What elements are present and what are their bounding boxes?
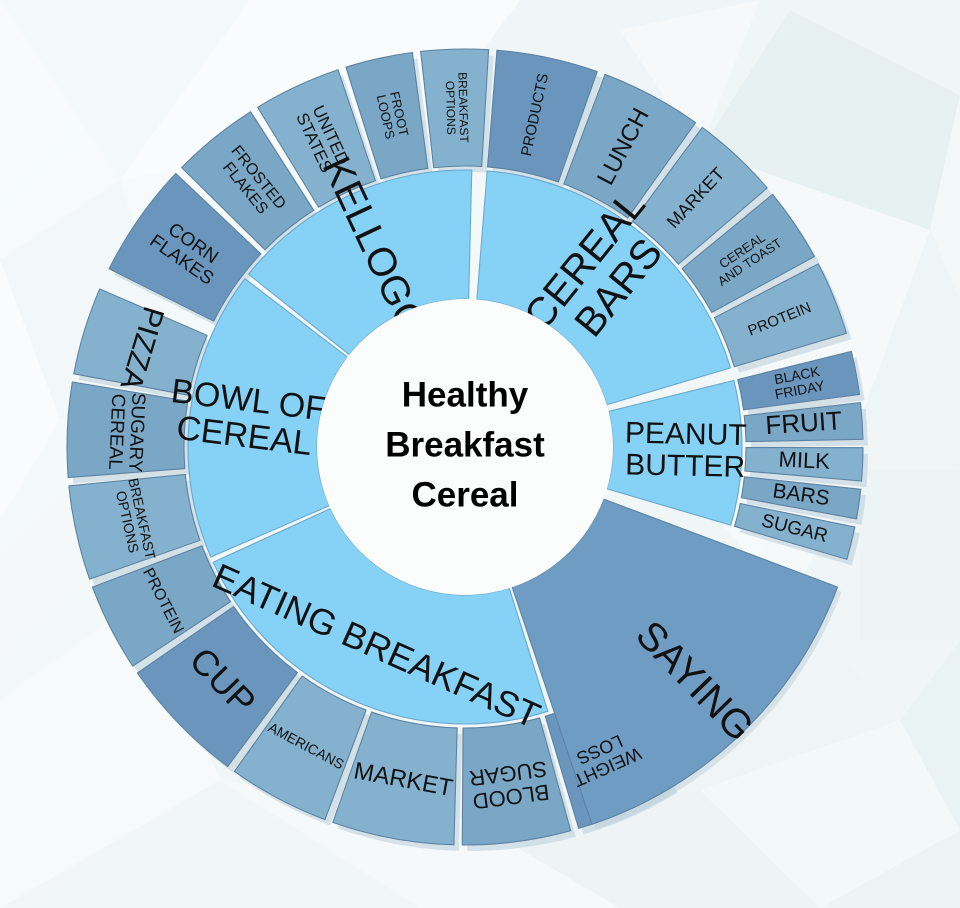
svg-text:BUTTER: BUTTER (625, 448, 746, 484)
svg-text:MILK: MILK (778, 447, 831, 474)
sunburst-chart: PRODUCTSLUNCHMARKETCEREALAND TOASTPROTEI… (0, 0, 960, 908)
outer-segment-label-blood-sugar: BLOODSUGAR (468, 756, 552, 814)
outer-segment-label-sugary-cereal: SUGARYCEREAL (104, 391, 149, 473)
center-title-line: Healthy (402, 375, 529, 414)
outer-segment-label-milk: MILK (778, 447, 831, 474)
diagram-canvas: PRODUCTSLUNCHMARKETCEREALAND TOASTPROTEI… (0, 0, 960, 908)
outer-segment-label-breakfast-options: BREAKFASTOPTIONS (443, 72, 472, 144)
center-title-line: Breakfast (385, 425, 545, 464)
svg-text:FRUIT: FRUIT (764, 405, 842, 440)
svg-text:CEREAL: CEREAL (104, 393, 128, 470)
svg-text:OPTIONS: OPTIONS (443, 81, 458, 135)
inner-segment-label-peanut-butter: PEANUTBUTTER (624, 417, 747, 484)
outer-segment-label-fruit: FRUIT (764, 405, 842, 440)
svg-text:PEANUT: PEANUT (625, 417, 747, 453)
center-title-line: Cereal (411, 475, 518, 514)
